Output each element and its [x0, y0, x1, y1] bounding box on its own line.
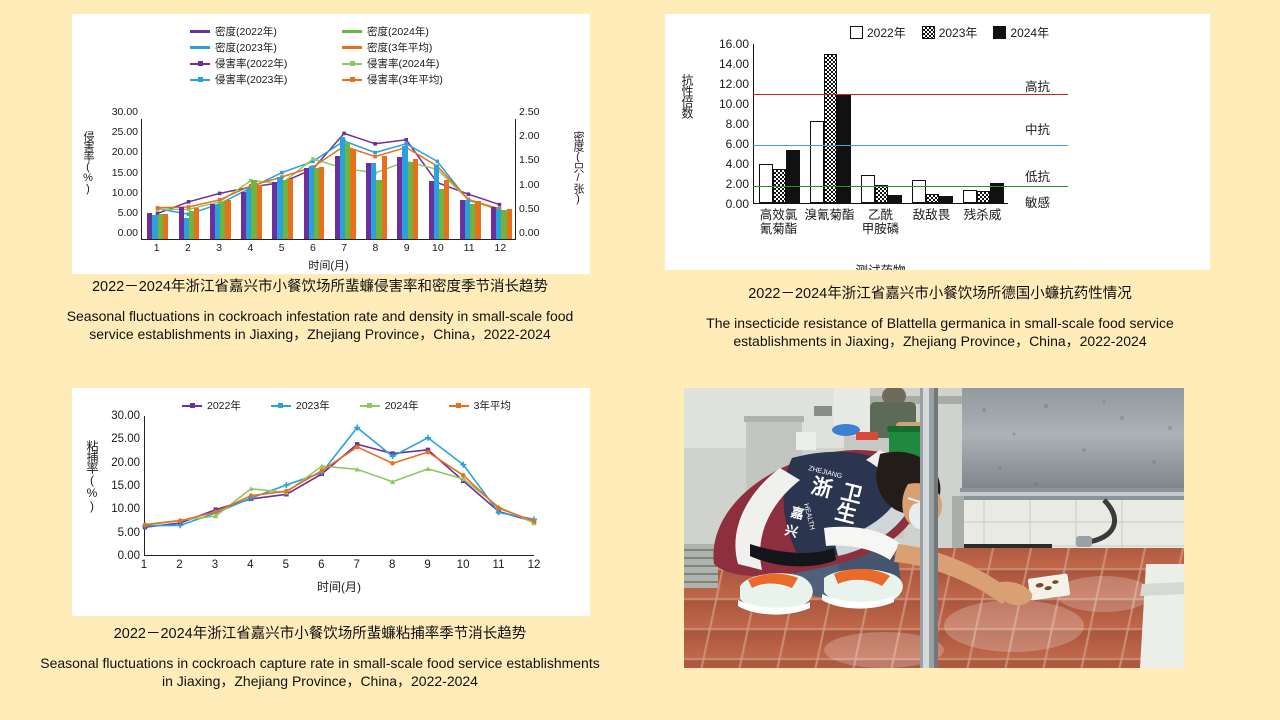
- chart1-bar: [288, 179, 293, 239]
- chart2-bar: [977, 191, 991, 203]
- chart3-plot-area: [144, 416, 534, 556]
- chart2-legend-item: 2023年: [922, 24, 978, 41]
- chart3-legend-item: 2022年: [182, 398, 241, 413]
- chart1-legend: 密度(2022年)密度(2024年)密度(2023年)密度(3年平均)侵害率(2…: [190, 24, 480, 87]
- legend-label: 密度(2022年): [215, 24, 277, 39]
- legend-label: 3年平均: [474, 398, 511, 413]
- chart2-bar: [939, 196, 953, 204]
- chart3-xtick: 6: [318, 559, 324, 571]
- legend-swatch: [850, 26, 863, 39]
- chart1-bar-group: [423, 119, 454, 239]
- chart1-legend-item: 密度(3年平均): [342, 40, 480, 55]
- chart1-bar: [413, 159, 418, 239]
- chart1-bar: [507, 209, 512, 239]
- legend-swatch: [922, 26, 935, 39]
- legend-label: 2024年: [385, 398, 419, 413]
- caption-en: Seasonal fluctuations in cockroach infes…: [20, 307, 620, 345]
- chart1-bar-group: [298, 119, 329, 239]
- chart3-xtick: 12: [528, 559, 541, 571]
- chart3-legend: 2022年2023年2024年3年平均: [182, 398, 511, 413]
- chart1-bar-group: [205, 119, 236, 239]
- chart1-legend-item: 侵害率(2023年): [190, 72, 328, 87]
- chart1-bar: [382, 156, 387, 239]
- caption-en: Seasonal fluctuations in cockroach captu…: [20, 654, 620, 692]
- chart2-threshold-label: 低抗: [1025, 166, 1050, 185]
- chart1-bar-group: [392, 119, 423, 239]
- chart1-ylabel-left: 侵害率(%): [80, 131, 96, 194]
- chart3-xtick: 4: [247, 559, 253, 571]
- chart3-xtick: 3: [212, 559, 218, 571]
- chart2-ylabel: 抗性倍数: [679, 74, 696, 118]
- chart2-bar: [810, 121, 824, 203]
- chart2-xlabel: 测试药物: [753, 260, 1008, 270]
- legend-swatch: [190, 30, 210, 34]
- chart2-bar: [912, 180, 926, 203]
- chart3-xtick: 5: [283, 559, 289, 571]
- chart1-xtick: 7: [329, 242, 360, 254]
- chart2-bar: [824, 54, 838, 203]
- chart1-bar: [225, 200, 230, 239]
- caption-zh: 2022－2024年浙江省嘉兴市小餐饮场所德国小蠊抗药性情况: [660, 285, 1220, 305]
- legend-line-marker: [271, 401, 291, 410]
- chart2-xtick: 高效氯氰菊酯: [753, 208, 804, 236]
- chart1-bar: [350, 149, 355, 239]
- caption-zh: 2022－2024年浙江省嘉兴市小餐饮场所蜚蠊粘捕率季节消长趋势: [20, 625, 620, 645]
- chart3-ytick: 20.00: [111, 457, 140, 469]
- chart2-bar-group: [810, 44, 851, 203]
- chart2-ytick: 8.00: [726, 117, 749, 131]
- chart2-xtick: 乙酰甲胺磷: [855, 208, 906, 236]
- chart2-bar: [875, 185, 889, 203]
- chart1-bar: [444, 180, 449, 239]
- chart3-legend-item: 3年平均: [449, 398, 511, 413]
- chart1-bar-group: [486, 119, 517, 239]
- chart1-bar: [319, 167, 324, 239]
- legend-label: 2024年: [1010, 24, 1049, 41]
- chart3-xlabel: 时间(月): [144, 578, 534, 595]
- legend-line-marker: [449, 401, 469, 410]
- chart2-bar: [861, 175, 875, 203]
- legend-label: 侵害率(2022年): [215, 56, 287, 71]
- chart2-ytick: 10.00: [719, 97, 749, 111]
- chart2-xtick: 敌敌畏: [906, 208, 957, 222]
- chart1-xtick: 2: [172, 242, 203, 254]
- chart1-ytick-right: 2.00: [519, 130, 539, 142]
- chart3-xtick: 9: [424, 559, 430, 571]
- chart3-ytick: 5.00: [118, 527, 140, 539]
- legend-line-marker: [190, 75, 210, 84]
- legend-label: 2022年: [207, 398, 241, 413]
- caption-infestation-density: 2022－2024年浙江省嘉兴市小餐饮场所蜚蠊侵害率和密度季节消长趋势 Seas…: [20, 278, 620, 344]
- chart1-ytick-right: 0.50: [519, 203, 539, 215]
- chart2-bar-group: [759, 44, 800, 203]
- legend-label: 侵害率(2023年): [215, 72, 287, 87]
- chart3-xtick: 10: [457, 559, 470, 571]
- legend-label: 侵害率(2024年): [367, 56, 439, 71]
- legend-label: 密度(2024年): [367, 24, 429, 39]
- chart3-legend-item: 2024年: [360, 398, 419, 413]
- chart1-ytick: 0.00: [118, 227, 138, 239]
- chart3-ytick: 10.00: [111, 503, 140, 515]
- chart1-ytick-right: 1.50: [519, 154, 539, 166]
- chart1-bar: [475, 201, 480, 239]
- figure-panel-field-photo: 浙 卫 生 嘉 兴 ZHEJIANG HEALTH: [684, 388, 1184, 668]
- chart2-ytick: 0.00: [726, 197, 749, 211]
- chart2-threshold-line: [753, 94, 1068, 95]
- chart3-ytick: 25.00: [111, 433, 140, 445]
- chart3-ytick: 30.00: [111, 410, 140, 422]
- chart1-bar-group: [236, 119, 267, 239]
- chart2-threshold-label: 敏感: [1025, 192, 1050, 211]
- chart3-legend-item: 2023年: [271, 398, 330, 413]
- slide-root: 密度(2022年)密度(2024年)密度(2023年)密度(3年平均)侵害率(2…: [0, 0, 1280, 720]
- legend-swatch: [342, 30, 362, 34]
- chart3-lines: [145, 416, 534, 555]
- chart1-xtick: 1: [141, 242, 172, 254]
- chart2-ytick: 14.00: [719, 57, 749, 71]
- chart1-ytick: 30.00: [112, 106, 138, 118]
- chart1-bar-group: [330, 119, 361, 239]
- chart1-ytick-right: 2.50: [519, 106, 539, 118]
- chart1-bar-group: [173, 119, 204, 239]
- legend-line-marker: [342, 59, 362, 68]
- legend-label: 密度(3年平均): [367, 40, 432, 55]
- chart2-ytick: 4.00: [726, 157, 749, 171]
- chart2-bar: [759, 164, 773, 203]
- chart1-ytick: 15.00: [112, 167, 138, 179]
- chart1-legend-item: 侵害率(2022年): [190, 56, 328, 71]
- chart3-ytick: 15.00: [111, 480, 140, 492]
- chart1-bar-group: [455, 119, 486, 239]
- chart1-xlabel: 时间(月): [141, 257, 516, 273]
- chart1-legend-item: 密度(2022年): [190, 24, 328, 39]
- legend-label: 侵害率(3年平均): [367, 72, 443, 87]
- caption-resistance: 2022－2024年浙江省嘉兴市小餐饮场所德国小蠊抗药性情况 The insec…: [660, 285, 1220, 351]
- field-inspection-photo: 浙 卫 生 嘉 兴 ZHEJIANG HEALTH: [684, 388, 1184, 668]
- figure-panel-infestation-density: 密度(2022年)密度(2024年)密度(2023年)密度(3年平均)侵害率(2…: [72, 14, 590, 274]
- chart3-ylabel: 粘捕率(%): [84, 440, 101, 512]
- chart1-ytick-right: 1.00: [519, 179, 539, 191]
- chart2-bar: [926, 194, 940, 203]
- chart2-bar: [837, 94, 851, 203]
- chart2-bar: [963, 190, 977, 203]
- chart1-ytick-right: 0.00: [519, 227, 539, 239]
- chart2-ytick: 16.00: [719, 37, 749, 51]
- chart1-legend-item: 密度(2023年): [190, 40, 328, 55]
- chart1-bar: [194, 208, 199, 239]
- chart1-xtick: 9: [391, 242, 422, 254]
- chart2-bar-group: [861, 44, 902, 203]
- chart3-ytick: 0.00: [118, 550, 140, 562]
- chart1-xtick: 3: [204, 242, 235, 254]
- chart2-threshold-line: [753, 186, 1068, 187]
- chart2-ytick: 6.00: [726, 137, 749, 151]
- chart1-xtick: 12: [485, 242, 516, 254]
- chart3-xtick: 1: [141, 559, 147, 571]
- figure-panel-capture-rate: 2022年2023年2024年3年平均 粘捕率(%) 0.005.0010.00…: [72, 388, 590, 616]
- chart1-ylabel-right: 密度(只/张): [570, 131, 586, 204]
- caption-zh: 2022－2024年浙江省嘉兴市小餐饮场所蜚蠊侵害率和密度季节消长趋势: [20, 278, 620, 298]
- chart1-xtick: 8: [360, 242, 391, 254]
- legend-label: 密度(2023年): [215, 40, 277, 55]
- legend-label: 2023年: [939, 24, 978, 41]
- legend-line-marker: [182, 401, 202, 410]
- chart2-bar: [888, 195, 902, 203]
- legend-label: 2023年: [296, 398, 330, 413]
- chart2-bar-group: [963, 44, 1004, 203]
- legend-swatch: [342, 46, 362, 50]
- legend-swatch: [993, 26, 1006, 39]
- chart2-xtick: 溴氰菊酯: [804, 208, 855, 222]
- chart1-xtick: 5: [266, 242, 297, 254]
- chart1-xtick: 4: [235, 242, 266, 254]
- chart1-bar: [257, 185, 262, 239]
- chart1-bar-group: [142, 119, 173, 239]
- chart1-ytick: 20.00: [112, 146, 138, 158]
- caption-en: The insecticide resistance of Blattella …: [660, 314, 1220, 352]
- chart2-legend: 2022年2023年2024年: [850, 24, 1049, 41]
- legend-line-marker: [190, 59, 210, 68]
- chart2-ytick: 2.00: [726, 177, 749, 191]
- chart2-legend-item: 2024年: [993, 24, 1049, 41]
- chart2-plot-area: [753, 44, 1008, 204]
- caption-capture-rate: 2022－2024年浙江省嘉兴市小餐饮场所蜚蠊粘捕率季节消长趋势 Seasona…: [20, 625, 620, 691]
- chart1-xaxis-ticks: 123456789101112: [141, 242, 516, 254]
- chart2-legend-item: 2022年: [850, 24, 906, 41]
- chart3-xtick: 7: [354, 559, 360, 571]
- chart1-ytick: 5.00: [118, 207, 138, 219]
- chart1-ytick: 10.00: [112, 187, 138, 199]
- chart2-ytick: 12.00: [719, 77, 749, 91]
- chart1-legend-item: 密度(2024年): [342, 24, 480, 39]
- chart2-threshold-label: 中抗: [1025, 119, 1050, 138]
- chart2-threshold-label: 高抗: [1025, 76, 1050, 95]
- figure-panel-resistance: 2022年2023年2024年 抗性倍数 0.002.004.006.008.0…: [665, 14, 1210, 270]
- chart3-xtick: 2: [176, 559, 182, 571]
- legend-swatch: [190, 46, 210, 50]
- chart1-xtick: 10: [422, 242, 453, 254]
- legend-line-marker: [342, 75, 362, 84]
- legend-line-marker: [360, 401, 380, 410]
- chart1-xtick: 11: [454, 242, 485, 254]
- chart1-bar-group: [267, 119, 298, 239]
- chart2-bar-group: [912, 44, 953, 203]
- chart1-xtick: 6: [297, 242, 328, 254]
- chart1-ytick: 25.00: [112, 126, 138, 138]
- chart3-xtick: 11: [493, 559, 505, 571]
- chart2-xtick: 残杀威: [957, 208, 1008, 222]
- chart1-plot-area: [141, 119, 516, 240]
- chart3-xtick: 8: [389, 559, 395, 571]
- chart1-bar: [163, 214, 168, 239]
- chart1-bar-group: [361, 119, 392, 239]
- chart2-bar: [786, 150, 800, 203]
- photo-illustration: 浙 卫 生 嘉 兴 ZHEJIANG HEALTH: [684, 388, 1184, 668]
- chart2-threshold-line: [753, 145, 1068, 146]
- legend-label: 2022年: [867, 24, 906, 41]
- chart1-legend-item: 侵害率(3年平均): [342, 72, 480, 87]
- chart1-legend-item: 侵害率(2024年): [342, 56, 480, 71]
